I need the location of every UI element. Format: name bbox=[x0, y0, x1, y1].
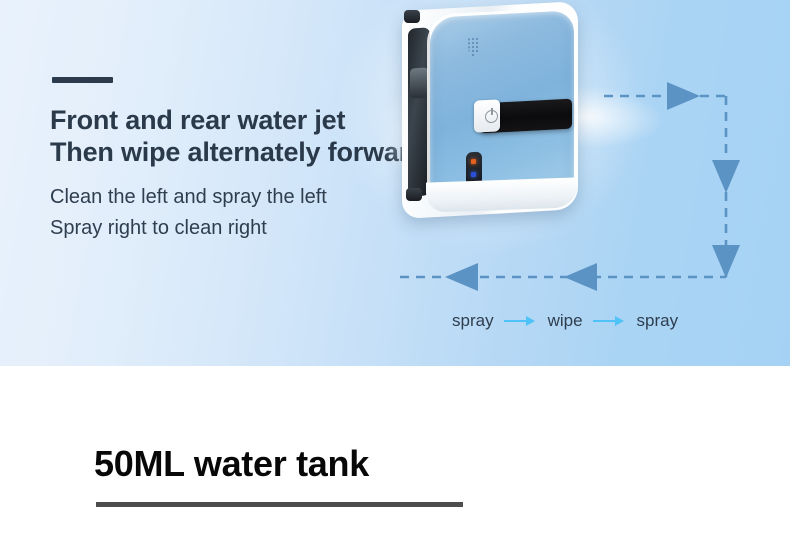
led-indicator-orange bbox=[471, 159, 476, 164]
water-tank-underline bbox=[96, 502, 463, 507]
hero-subline-line2: Spray right to clean right bbox=[50, 217, 267, 239]
arrowhead-left-left bbox=[445, 263, 478, 291]
hero-subline-line1: Clean the left and spray the left bbox=[50, 186, 327, 208]
arrowhead-left-right bbox=[564, 263, 597, 291]
window-cleaning-robot bbox=[402, 2, 588, 218]
robot-vent-icon bbox=[468, 38, 481, 57]
caption-arrow-1-icon bbox=[504, 315, 538, 327]
caption-step-spray-2: spray bbox=[635, 311, 681, 331]
hero-headline-line1: Front and rear water jet bbox=[50, 105, 345, 135]
led-indicator-blue bbox=[471, 172, 476, 177]
robot-rail-notch bbox=[410, 67, 428, 98]
caption-step-wipe: wipe bbox=[546, 311, 585, 331]
arrowhead-down-upper bbox=[712, 160, 740, 193]
caption-arrow-2-icon bbox=[593, 315, 627, 327]
robot-wheel-top-left bbox=[404, 10, 420, 23]
hero-panel: Front and rear water jet Then wipe alter… bbox=[0, 0, 790, 366]
accent-bar bbox=[52, 77, 113, 83]
cleaning-sequence-caption: spray wipe spray bbox=[450, 311, 680, 331]
robot-bottom-lip bbox=[426, 177, 578, 212]
arrowhead-down-lower bbox=[712, 245, 740, 278]
water-tank-title: 50ML water tank bbox=[94, 443, 369, 485]
robot-wheel-bottom-left bbox=[406, 188, 422, 201]
arrowhead-right-top bbox=[667, 82, 700, 110]
lower-section: 50ML water tank bbox=[0, 366, 790, 549]
caption-step-spray-1: spray bbox=[450, 311, 496, 331]
